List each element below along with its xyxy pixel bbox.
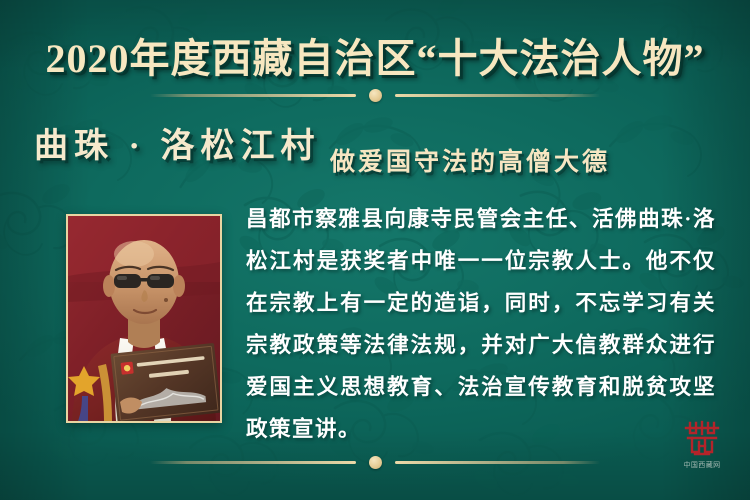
divider-dot-icon — [369, 89, 382, 102]
honoree-subtitle: 做爱国守法的高僧大德 — [330, 142, 610, 178]
poster-canvas: 2020年度西藏自治区“十大法治人物” 曲珠 · 洛松江村 做爱国守法的高僧大德 — [0, 0, 750, 500]
seal-logo-icon — [682, 418, 722, 458]
divider-rule-left-bottom — [150, 461, 356, 464]
watermark-text: 中国西藏网 — [676, 460, 728, 470]
divider-bottom — [150, 455, 600, 469]
honoree-description: 昌都市察雅县向康寺民管会主任、活佛曲珠·洛松江村是获奖者中唯一一位宗教人士。他不… — [246, 198, 716, 450]
divider-rule-left — [150, 94, 356, 97]
divider-top — [150, 88, 600, 102]
divider-dot-icon-bottom — [369, 456, 382, 469]
divider-rule-right — [395, 94, 601, 97]
page-title: 2020年度西藏自治区“十大法治人物” — [0, 26, 750, 84]
honoree-photo — [68, 216, 220, 421]
watermark-logo: 中国西藏网 — [676, 418, 728, 476]
honoree-photo-frame — [66, 214, 222, 423]
divider-rule-right-bottom — [395, 461, 601, 464]
honoree-name: 曲珠 · 洛松江村 — [34, 118, 320, 167]
